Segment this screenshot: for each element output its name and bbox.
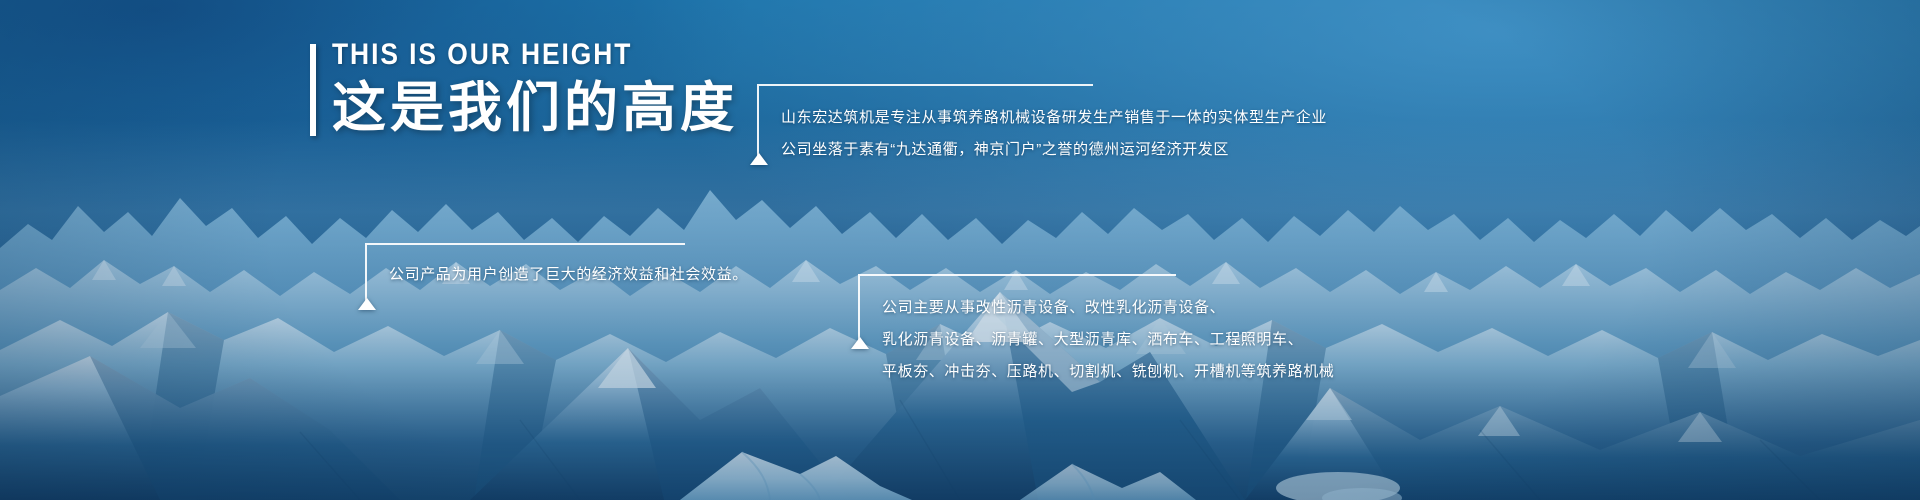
callout-line: 公司主要从事改性沥青设备、改性乳化沥青设备、 [882, 292, 1176, 324]
title-chinese: 这是我们的高度 [332, 79, 738, 137]
callout-product-range: 公司主要从事改性沥青设备、改性乳化沥青设备、 乳化沥青设备、沥青罐、大型沥青库、… [858, 274, 1176, 340]
title-english: THIS IS OUR HEIGHT [332, 40, 689, 70]
callout-text-group: 公司产品为用户创造了巨大的经济效益和社会效益。 [367, 245, 685, 291]
callout-line: 公司产品为用户创造了巨大的经济效益和社会效益。 [389, 259, 685, 291]
triangle-up-marker-icon [851, 337, 869, 349]
page-title: THIS IS OUR HEIGHT 这是我们的高度 [310, 40, 738, 137]
callout-line: 平板夯、冲击夯、压路机、切割机、铣刨机、开槽机等筑养路机械 [882, 356, 1176, 388]
callout-customer-benefit: 公司产品为用户创造了巨大的经济效益和社会效益。 [365, 243, 685, 301]
triangle-up-marker-icon [358, 298, 376, 310]
callout-line: 公司坐落于素有“九达通衢，神京门户”之誉的德州运河经济开发区 [781, 134, 1093, 166]
triangle-up-marker-icon [750, 153, 768, 165]
callout-company-intro: 山东宏达筑机是专注从事筑养路机械设备研发生产销售于一体的实体型生产企业 公司坐落… [757, 84, 1093, 156]
callout-text-group: 公司主要从事改性沥青设备、改性乳化沥青设备、 乳化沥青设备、沥青罐、大型沥青库、… [860, 276, 1176, 388]
callout-line: 乳化沥青设备、沥青罐、大型沥青库、洒布车、工程照明车、 [882, 324, 1176, 356]
callout-text-group: 山东宏达筑机是专注从事筑养路机械设备研发生产销售于一体的实体型生产企业 公司坐落… [759, 86, 1093, 166]
hero-banner: THIS IS OUR HEIGHT 这是我们的高度 山东宏达筑机是专注从事筑养… [0, 0, 1920, 500]
callout-line: 山东宏达筑机是专注从事筑养路机械设备研发生产销售于一体的实体型生产企业 [781, 102, 1093, 134]
title-accent-bar [310, 44, 316, 136]
